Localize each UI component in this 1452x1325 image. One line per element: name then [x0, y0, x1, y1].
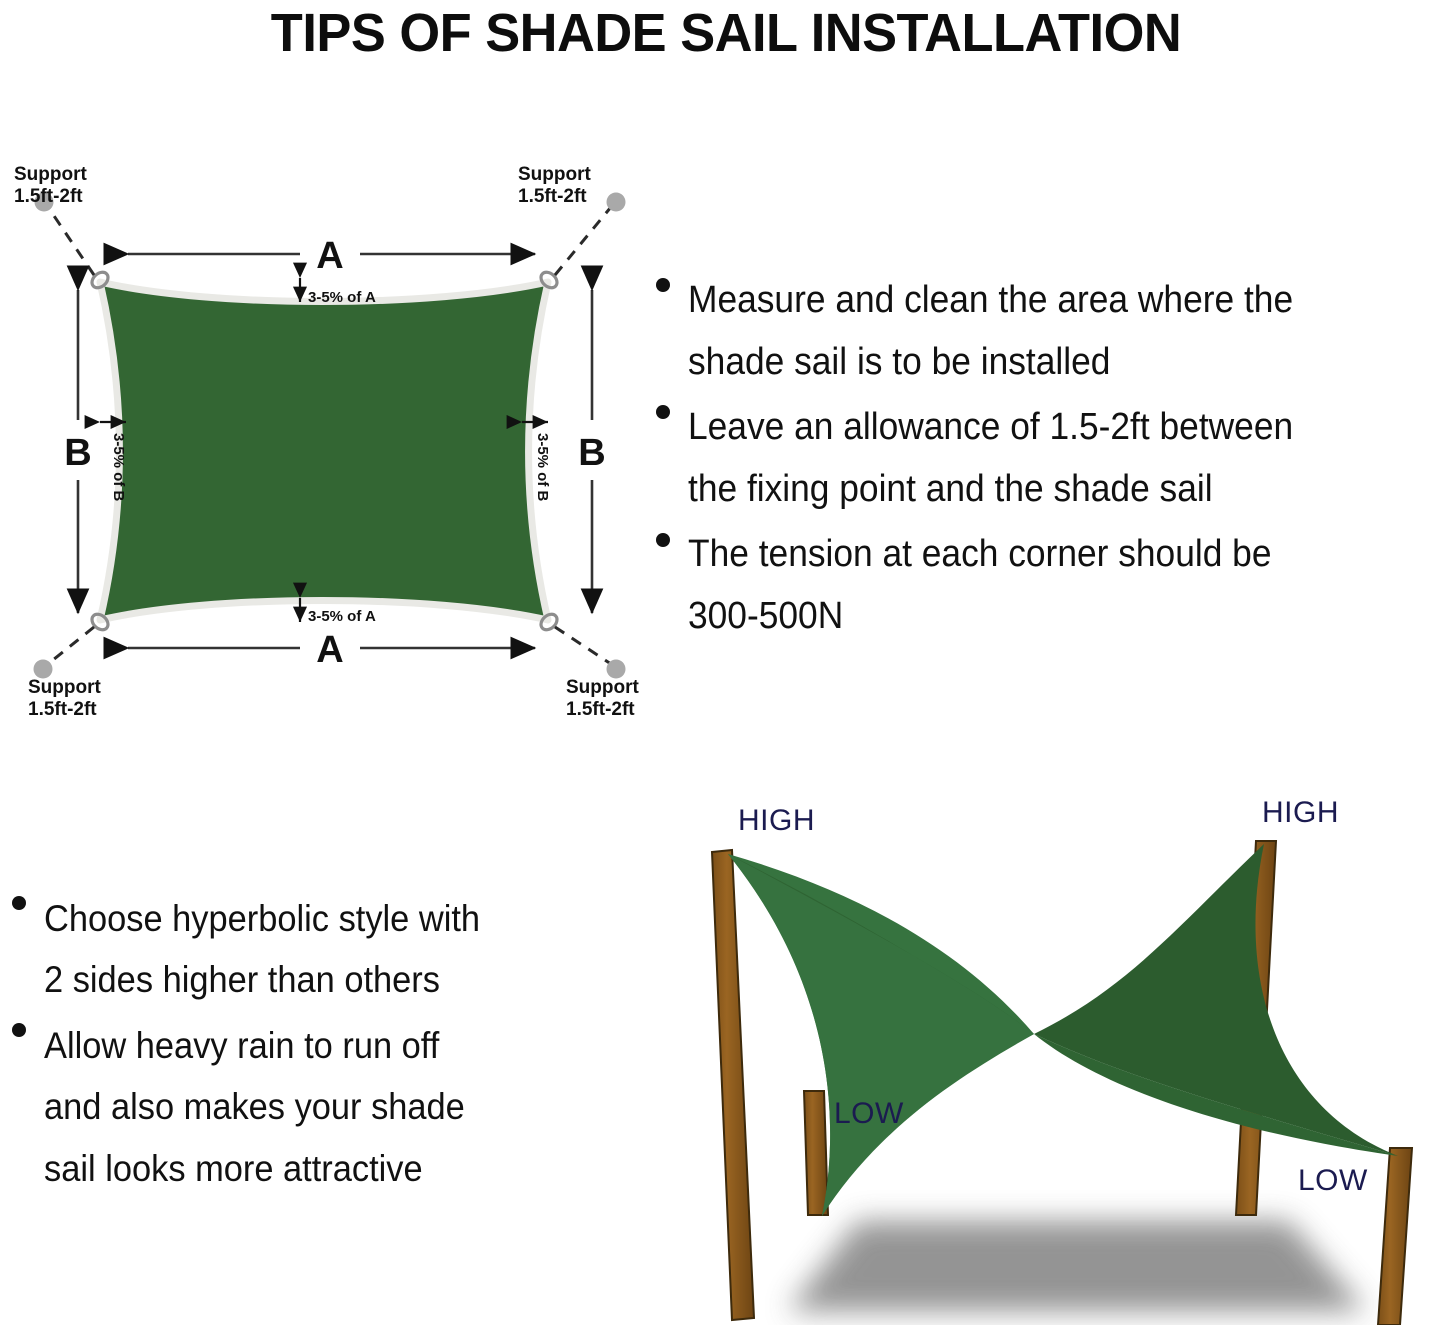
list-item-text: Allow heavy rain to run off and also mak… [44, 1015, 593, 1199]
list-item: Measure and clean the area where the sha… [648, 270, 1452, 393]
support-label-line2: 1.5ft-2ft [28, 699, 97, 720]
support-label-line1: Support [566, 677, 639, 698]
bullet-dot-icon [12, 1023, 26, 1037]
bullet-dot-icon [656, 278, 670, 292]
top-section: Support 1.5ft-2ft Support 1.5ft-2ft Supp… [0, 150, 1452, 770]
support-label-line1: Support [28, 677, 101, 698]
curvature-top: 3-5% of A [300, 278, 376, 306]
dimension-label-b-left: B [64, 432, 91, 474]
dimension-label-a-bottom: A [316, 629, 343, 671]
bullet-dot-icon [656, 405, 670, 419]
label-high-right: HIGH [1262, 796, 1339, 829]
support-anchor-dot [34, 660, 53, 679]
label-low-left: LOW [834, 1097, 904, 1130]
sail-shape [100, 282, 548, 620]
dimension-b-right: B [578, 290, 605, 613]
list-item: Choose hyperbolic style with 2 sides hig… [4, 888, 634, 1011]
list-item-text: Measure and clean the area where the sha… [688, 270, 1400, 393]
page-title: TIPS OF SHADE SAIL INSTALLATION [22, 2, 1430, 64]
hyperbolic-sail-shape [728, 844, 1398, 1216]
dimension-b-left: B [64, 290, 91, 613]
support-label-line1: Support [518, 164, 591, 185]
dimension-label-a-top: A [316, 235, 343, 277]
label-high-left: HIGH [738, 804, 815, 837]
pole-low-left [804, 1091, 828, 1215]
bullet-dot-icon [12, 896, 26, 910]
bottom-tips-list-container: Choose hyperbolic style with 2 sides hig… [4, 888, 634, 1203]
dimension-label-b-right: B [578, 432, 605, 474]
bullet-dot-icon [656, 533, 670, 547]
list-item-text: Choose hyperbolic style with 2 sides hig… [44, 888, 593, 1011]
list-item: The tension at each corner should be 300… [648, 524, 1452, 647]
label-low-right: LOW [1298, 1164, 1368, 1197]
rectangular-sail-diagram: Support 1.5ft-2ft Support 1.5ft-2ft Supp… [0, 150, 640, 750]
bottom-tips-list: Choose hyperbolic style with 2 sides hig… [4, 888, 634, 1199]
list-item: Leave an allowance of 1.5-2ft between th… [648, 397, 1452, 520]
pole-low-right [1378, 1148, 1412, 1325]
support-label-top-left: Support 1.5ft-2ft [14, 164, 87, 207]
curvature-label-right: 3-5% of B [534, 433, 551, 502]
support-anchor-dot [607, 660, 626, 679]
pole-high-left [712, 850, 754, 1320]
support-anchor-dot [607, 193, 626, 212]
list-item-text: Leave an allowance of 1.5-2ft between th… [688, 397, 1400, 520]
list-item: Allow heavy rain to run off and also mak… [4, 1015, 634, 1199]
dimension-a-bottom: A [128, 629, 535, 671]
hyperbolic-sail-illustration: HIGH HIGH LOW LOW [676, 778, 1452, 1325]
list-item-text: The tension at each corner should be 300… [688, 524, 1400, 647]
top-tips-list-container: Measure and clean the area where the sha… [648, 270, 1452, 651]
curvature-left: 3-5% of B [100, 422, 127, 502]
support-label-bottom-left: Support 1.5ft-2ft [28, 677, 101, 720]
support-label-line2: 1.5ft-2ft [14, 186, 83, 207]
support-label-bottom-right: Support 1.5ft-2ft [566, 677, 639, 720]
support-label-line2: 1.5ft-2ft [518, 186, 587, 207]
dimension-a-top: A [128, 235, 535, 277]
ground-shadow [788, 1221, 1366, 1311]
curvature-label-bottom: 3-5% of A [308, 608, 376, 625]
support-label-top-right: Support 1.5ft-2ft [518, 164, 591, 207]
top-tips-list: Measure and clean the area where the sha… [648, 270, 1452, 647]
support-label-line1: Support [14, 164, 87, 185]
curvature-label-left: 3-5% of B [110, 433, 127, 502]
curvature-label-top: 3-5% of A [308, 289, 376, 306]
support-label-line2: 1.5ft-2ft [566, 699, 635, 720]
